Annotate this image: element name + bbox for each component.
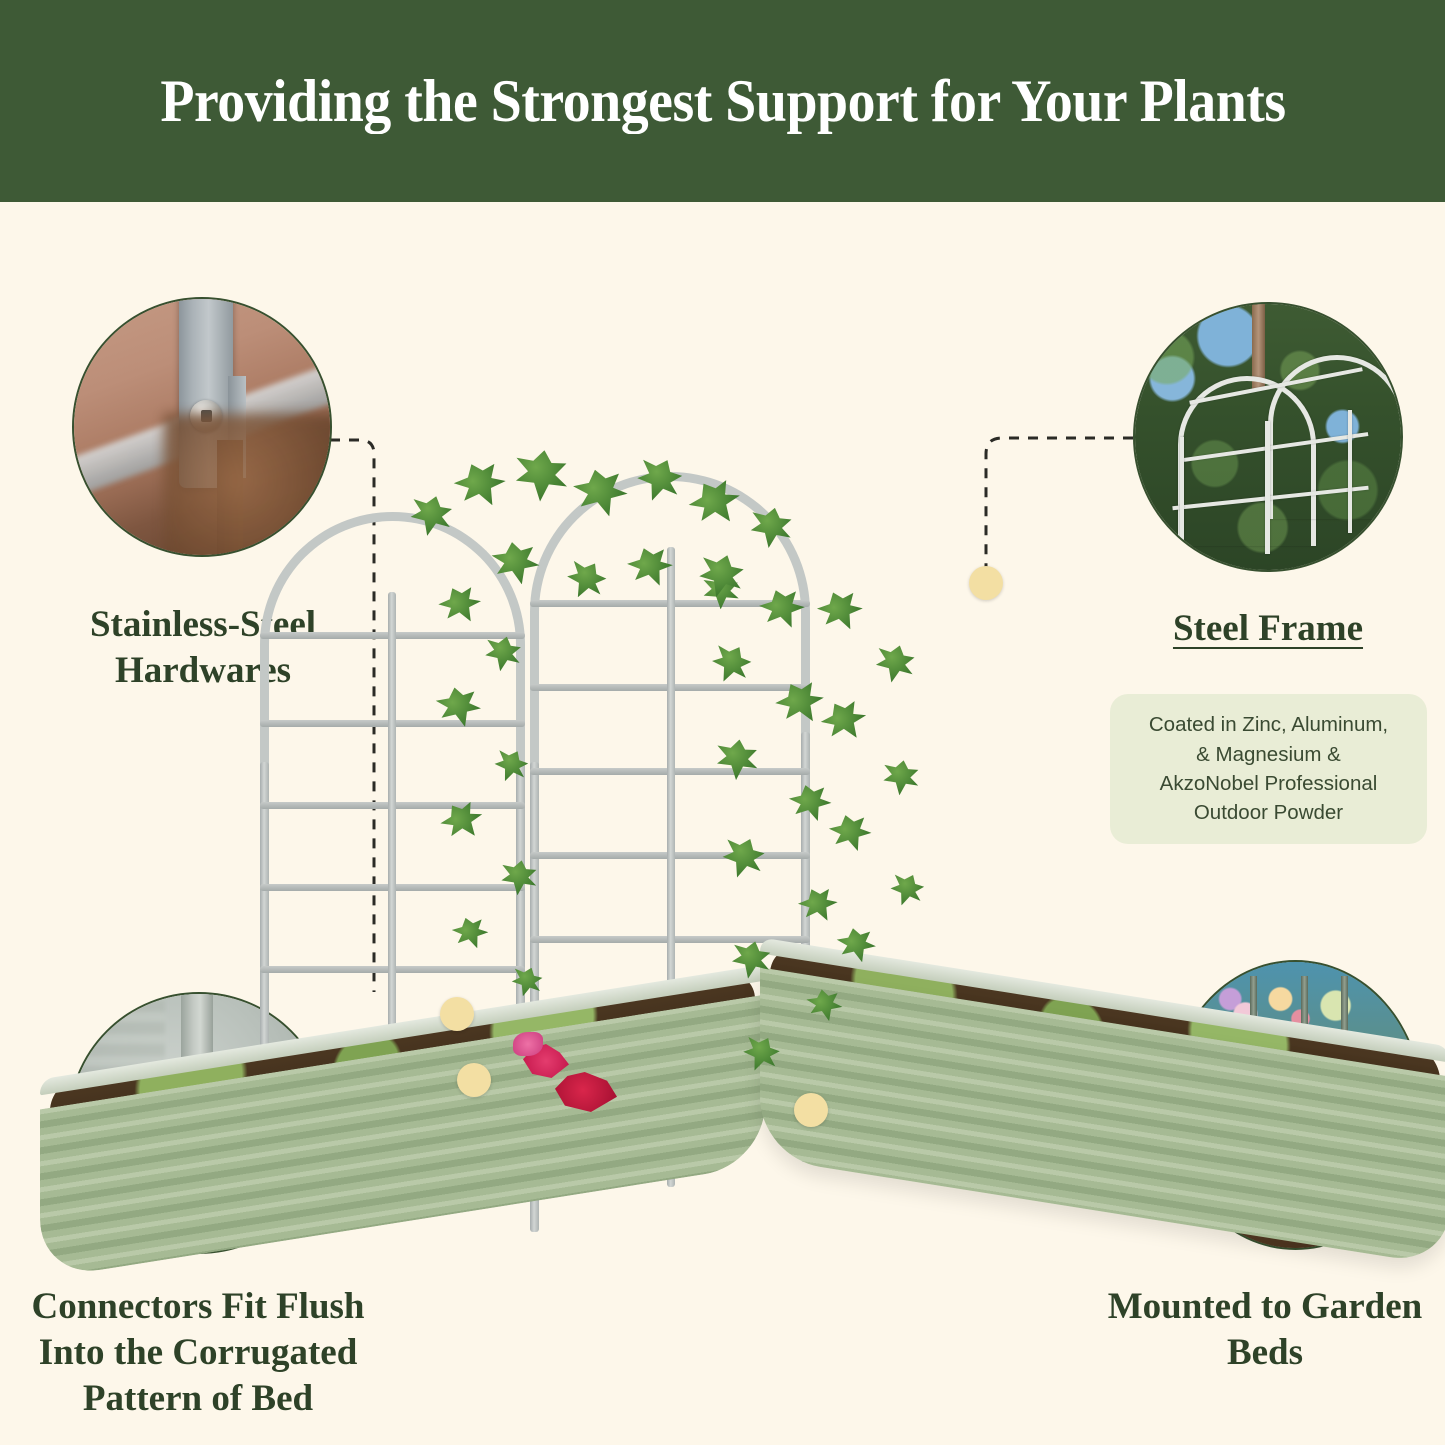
connector-dot-steel-frame [969, 566, 1003, 600]
steel-bracket-edge-shape [228, 376, 246, 478]
page-title: Providing the Strongest Support for Your… [160, 67, 1285, 136]
flower-pink-small [513, 1032, 543, 1056]
frame-post-right [1348, 410, 1352, 532]
connector-dot-mounted [794, 1093, 828, 1127]
connector-dot-hardwares [440, 997, 474, 1031]
label-line-3: Pattern of Bed [18, 1376, 378, 1422]
frame-post-mid [1265, 421, 1270, 554]
wood-post-shape [217, 440, 243, 557]
steel-bracket-shape [179, 297, 233, 488]
header-band: Providing the Strongest Support for Your… [0, 0, 1445, 202]
product-illustration [255, 332, 1205, 1342]
bolt-head-icon [190, 400, 222, 432]
infographic-stage: Stainless-Steel Hardwares vego garden Co… [0, 202, 1445, 1445]
connector-dot-connectors [457, 1063, 491, 1097]
